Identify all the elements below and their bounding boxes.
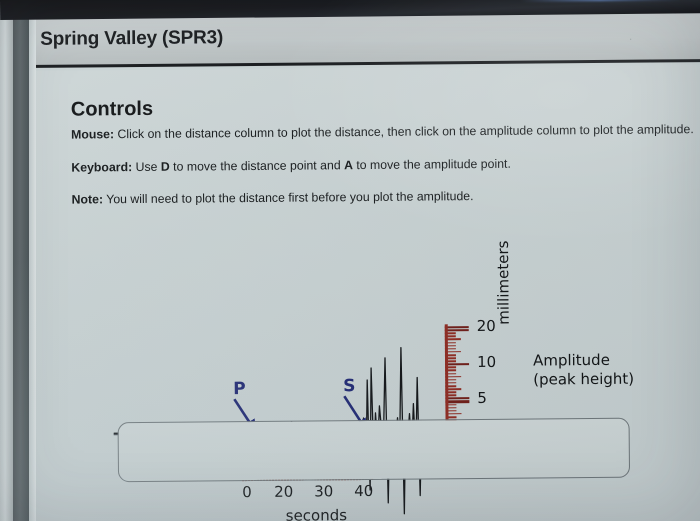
screen-glint [520,0,680,2]
controls-heading: Controls [71,98,153,122]
amplitude-caption-subtitle: (peak height) [533,370,634,390]
controls-keyboard-instruction: Keyboard: Use D to move the distance poi… [71,155,700,176]
amplitude-ruler[interactable] [445,322,472,432]
controls-keyboard-text-b: to move the distance point and [170,158,344,174]
time-axis-unit-caption: seconds [166,505,466,521]
monitor-bezel-inner [29,0,36,521]
amplitude-caption: Amplitude (peak height) [533,351,634,390]
controls-keyboard-text-c: to move the amplitude point. [353,157,511,172]
time-tick-label-20: 20 [274,483,293,501]
controls-note-text: You will need to plot the distance first… [103,189,474,206]
monitor-bezel-outer [0,0,13,521]
bottom-panel[interactable] [118,418,631,482]
controls-keyboard-text-a: Use [132,160,161,174]
time-tick-label-40: 40 [354,482,373,500]
amplitude-ruler-tick [445,363,469,365]
key-a: A [344,158,353,172]
amplitude-ruler-tick [445,401,469,403]
time-tick-label-0: 0 [242,483,252,501]
page-title: Spring Valley (SPR3) [40,27,223,51]
amplitude-tick-label-20: 20 [477,317,496,335]
window-content: Controls Mouse: Click on the distance co… [22,65,700,521]
amplitude-tick-label-5: 5 [477,389,487,407]
monitor-bezel-left [13,0,29,521]
controls-note: Note: You will need to plot the distance… [72,187,700,208]
controls-keyboard-label: Keyboard: [71,160,132,175]
amplitude-axis-unit: millimeters [494,241,513,325]
dust-speck-icon: · [629,37,634,42]
amplitude-caption-title: Amplitude [533,351,634,371]
amplitude-tick-label-10: 10 [477,353,496,371]
time-tick-label-30: 30 [314,482,333,500]
controls-mouse-label: Mouse: [71,127,114,141]
controls-mouse-instruction: Mouse: Click on the distance column to p… [71,122,700,143]
application-window: Spring Valley (SPR3) · Controls Mouse: C… [22,10,700,521]
amplitude-ruler-tick [445,397,469,399]
amplitude-ruler-tick [445,329,469,331]
controls-mouse-text: Click on the distance column to plot the… [114,122,694,141]
controls-note-label: Note: [72,192,104,206]
amplitude-ruler-tick [445,326,469,328]
screenshot-root: Spring Valley (SPR3) · Controls Mouse: C… [0,0,700,521]
time-axis-labels: 0 20 30 40 [226,482,416,504]
